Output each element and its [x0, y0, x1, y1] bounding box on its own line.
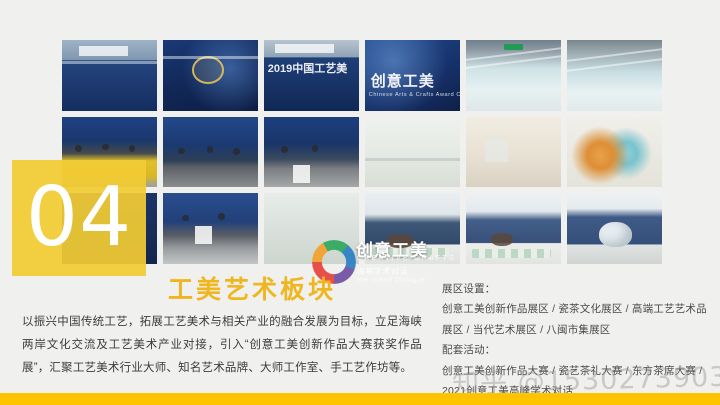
photo-expo-signage: [62, 40, 157, 111]
photo-group-award-a: [163, 117, 258, 188]
info-heading-exhibition: 展区设置：: [442, 279, 710, 299]
photo-stage-banner: 2019中国工艺美: [264, 40, 359, 111]
person-head: [75, 145, 82, 152]
photo-fill: [466, 117, 561, 188]
photo-booth-overview: [365, 117, 460, 188]
logo-sub-en: Hai Island Dialogue: [357, 277, 425, 284]
teapot-detail: [491, 233, 514, 246]
person-head: [233, 148, 240, 155]
vase-detail: [599, 222, 631, 247]
body-paragraph: 以振兴中国传统工艺，拓展工艺美术与相关产业的融合发展为目标，立足海峡两岸文化交流…: [22, 311, 422, 380]
photo-booth-lantern: [567, 117, 662, 188]
rail-detail: [62, 61, 157, 64]
photo-fill: [264, 117, 359, 188]
person-head: [102, 144, 109, 151]
tea-mat-detail: [373, 248, 449, 256]
sign-detail: [79, 46, 128, 56]
rail-detail: [163, 56, 258, 59]
photo-fill: [264, 193, 359, 264]
photo-hall-ceiling-a: [466, 40, 561, 111]
photo-banner-headline: 创意工美 Chinese Arts & Crafts Award Competi…: [365, 40, 460, 111]
certificate-detail: [293, 165, 310, 183]
photo-award-ceremony: [163, 193, 258, 264]
photo-tea-set-b: [466, 193, 561, 264]
photo-tea-set-a: [365, 193, 460, 264]
person-head: [281, 146, 288, 153]
logo-sub-cn: 海峡学术对话: [357, 266, 408, 277]
photo-white-vase: [567, 193, 662, 264]
certificate-detail: [195, 226, 212, 244]
sign-detail: [275, 44, 334, 53]
photo-hall-ceiling-b: [567, 40, 662, 111]
display-panel: [485, 138, 508, 162]
person-head: [218, 213, 225, 220]
bottom-accent-bar: [0, 393, 720, 405]
section-title: 工美艺术板块: [168, 270, 336, 306]
person-head: [312, 145, 319, 152]
section-number: 04: [12, 160, 146, 276]
banner-line-main: 创意工美: [371, 70, 435, 91]
photo-craft-logo: [264, 193, 359, 264]
photo-fill: [567, 117, 662, 188]
exit-sign-icon: [504, 44, 523, 50]
photo-banner-logo: [163, 40, 258, 111]
photo-group-award-b: [264, 117, 359, 188]
banner-emblem-icon: [192, 56, 225, 84]
banner-line-top: 2019中国工艺美: [268, 60, 347, 76]
info-heading-activities: 配套活动：: [442, 340, 710, 360]
photo-booth-display: [466, 117, 561, 188]
tea-mat-detail: [472, 249, 552, 257]
info-body-exhibition: 创意工美创新作品展区 / 瓷茶文化展区 / 高端工艺艺术品展区 / 当代艺术展区…: [442, 299, 710, 340]
info-column: 展区设置： 创意工美创新作品展区 / 瓷茶文化展区 / 高端工艺艺术品展区 / …: [442, 279, 710, 402]
slide-canvas: 2019中国工艺美 创意工美 Chinese Arts & Crafts Awa…: [0, 0, 720, 405]
person-head: [129, 145, 136, 152]
rail-detail: [365, 158, 460, 161]
photo-fill: [365, 117, 460, 188]
person-head: [182, 215, 189, 222]
banner-line-en: Chinese Arts & Crafts Award Competition: [369, 92, 460, 98]
photo-collage: 2019中国工艺美 创意工美 Chinese Arts & Crafts Awa…: [62, 40, 662, 264]
